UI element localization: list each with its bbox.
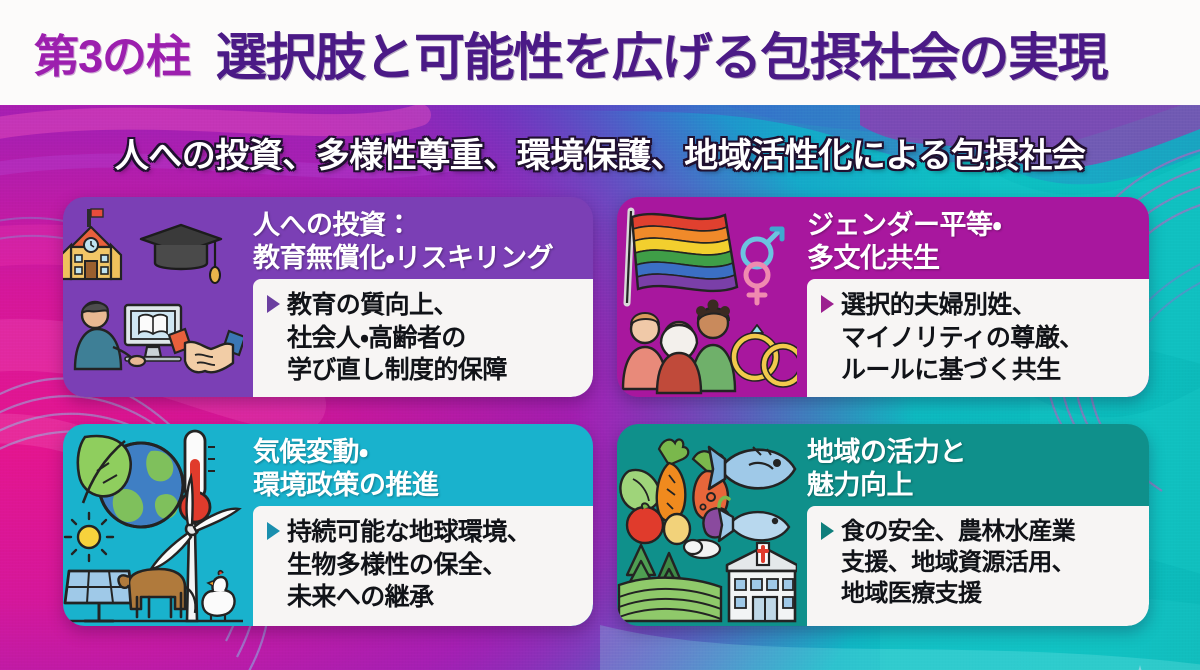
subtitle: 人への投資、多様性尊重、環境保護、地域活性化による包摂社会 [0,128,1200,177]
rainbow-flag-icon [627,211,737,303]
card-4-title: 地域の活力と 魅力向上 [807,436,1139,502]
card-3-title: 気候変動・ 環境政策の推進 [253,436,583,502]
chicken-icon [202,571,234,621]
diverse-people-icon [623,300,735,394]
card-3-body-text: 持続可能な地球環境、 生物多様性の保全、 未来への継承 [287,516,531,614]
cow-icon [118,569,195,617]
card-2-body-text: 選択的夫婦別姓、 マイノリティの尊厳、 ルールに基づく共生 [841,289,1084,387]
forest-farmland-icon [619,540,721,621]
slide-root: 第3の柱 選択肢と可能性を広げる包摂社会の実現 [0,0,1200,670]
wedding-rings-icon [734,325,797,384]
sun-icon [65,513,113,561]
card-2-title: ジェンダー平等・ 多文化共生 [807,209,1139,275]
card-1-title: 人への投資： 教育無償化・リスキリング [253,209,583,275]
card-4-body-text: 食の安全、農林水産業 支援、地域資源活用、 地域医療支援 [841,516,1075,610]
graduation-cap-icon [141,225,221,283]
card-4-body: 食の安全、農林水産業 支援、地域資源活用、 地域医療支援 [807,506,1149,626]
card-climate-environment[interactable]: 気候変動・ 環境政策の推進 持続可能な地球環境、 生物多様性の保全、 未来への継… [63,424,593,626]
card-3-body: 持続可能な地球環境、 生物多様性の保全、 未来への継承 [253,506,593,626]
handshake-icon [169,329,243,372]
gender-symbols-icon [743,229,782,303]
slide-header: 第3の柱 選択肢と可能性を広げる包摂社会の実現 [0,0,1200,105]
hospital-icon [727,543,797,621]
card-4-icon-group [617,424,797,626]
card-3-icon-group [63,424,243,626]
card-2-body: 選択的夫婦別姓、 マイノリティの尊厳、 ルールに基づく共生 [807,279,1149,397]
triangle-bullet-icon [821,295,834,313]
card-1-icon-group [63,197,243,397]
header-kicker: 第3の柱 [34,20,190,85]
page-title: 選択肢と可能性を広げる包摂社会の実現 [216,16,1107,90]
triangle-bullet-icon [267,295,280,313]
card-gender-equality[interactable]: ジェンダー平等・ 多文化共生 選択的夫婦別姓、 マイノリティの尊厳、 ルールに基… [617,197,1149,397]
card-1-body: 教育の質向上、 社会人・高齢者の 学び直し制度的保障 [253,279,593,397]
card-regional-vitality[interactable]: 地域の活力と 魅力向上 食の安全、農林水産業 支援、地域資源活用、 地域医療支援 [617,424,1149,626]
earth-leaf-icon [78,436,183,527]
card-2-icon-group [617,197,797,397]
triangle-bullet-icon [821,522,834,540]
triangle-bullet-icon [267,522,280,540]
school-icon [63,209,121,279]
card-investment-in-people[interactable]: 人への投資： 教育無償化・リスキリング 教育の質向上、 社会人・高齢者の 学び直… [63,197,593,397]
card-1-body-text: 教育の質向上、 社会人・高齢者の 学び直し制度的保障 [287,289,507,387]
person-at-computer-icon [75,302,181,369]
thermometer-icon [180,431,215,522]
